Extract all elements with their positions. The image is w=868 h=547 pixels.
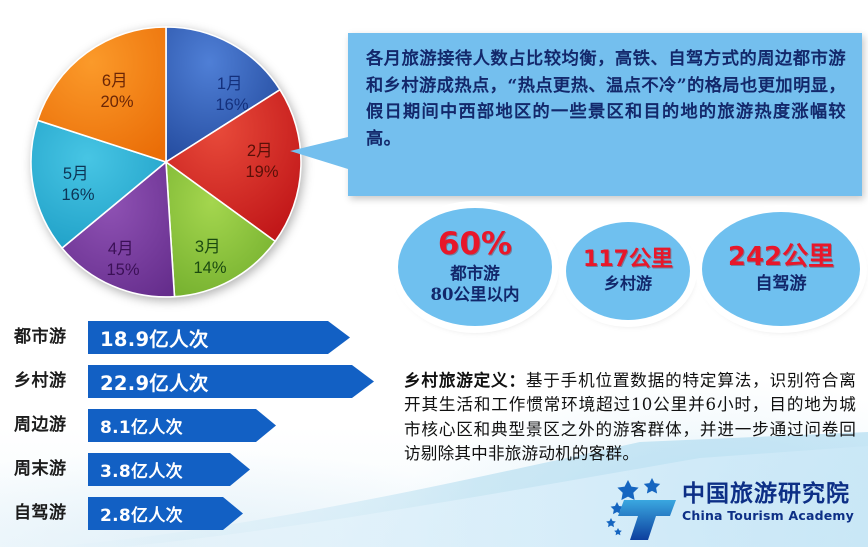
- bar-value-nearby: 8.1亿人次: [88, 413, 183, 438]
- bar-row-weekend: 周末游 3.8亿人次: [0, 450, 400, 488]
- logo-mark-icon: [604, 478, 682, 542]
- stat-bubble-rural-number: 117公里: [583, 249, 673, 271]
- stat-bubble-urban: 60% 都市游 80公里以内: [398, 208, 552, 326]
- stat-bubble-selfdrive-number: 242公里: [728, 244, 834, 270]
- bar-category-urban: 都市游: [14, 318, 67, 356]
- bar-row-rural: 乡村游 22.9亿人次: [0, 362, 400, 400]
- definition-term: 乡村旅游定义：: [404, 370, 526, 390]
- monthly-share-pie-chart: 1月 16% 2月 19% 3月 14% 4月 15% 5月 16% 6月 20…: [30, 24, 302, 298]
- bar-category-rural: 乡村游: [14, 362, 67, 400]
- logo-text: 中国旅游研究院 China Tourism Academy: [682, 482, 854, 523]
- bar-arrow-selfdrive: 2.8亿人次: [88, 497, 243, 530]
- organization-logo: 中国旅游研究院 China Tourism Academy: [604, 478, 866, 544]
- callout-text: 各月旅游接待人数占比较均衡，高铁、自驾方式的周边都市游和乡村游成热点，“热点更热…: [348, 33, 862, 196]
- stat-bubble-urban-caption: 都市游 80公里以内: [431, 264, 520, 304]
- bar-value-selfdrive: 2.8亿人次: [88, 501, 183, 526]
- bar-row-urban: 都市游 18.9亿人次: [0, 318, 400, 356]
- bar-value-urban: 18.9亿人次: [88, 323, 209, 352]
- stat-bubble-urban-number: 60%: [438, 229, 512, 260]
- bar-value-rural: 22.9亿人次: [88, 367, 209, 396]
- bar-value-weekend: 3.8亿人次: [88, 457, 183, 482]
- infographic-canvas: 1月 16% 2月 19% 3月 14% 4月 15% 5月 16% 6月 20…: [0, 0, 868, 547]
- trip-type-bar-chart: 都市游 18.9亿人次 乡村游 22.9亿人次 周边游 8.1亿人次 周末游 3…: [0, 318, 400, 543]
- logo-name-cn: 中国旅游研究院: [682, 482, 854, 506]
- summary-callout-box: 各月旅游接待人数占比较均衡，高铁、自驾方式的周边都市游和乡村游成热点，“热点更热…: [348, 33, 862, 196]
- bar-arrow-weekend: 3.8亿人次: [88, 453, 250, 486]
- pie-svg: 1月 16% 2月 19% 3月 14% 4月 15% 5月 16% 6月 20…: [30, 24, 302, 298]
- bar-arrow-urban: 18.9亿人次: [88, 321, 350, 354]
- stat-bubble-urban-caption-line2: 80公里以内: [431, 285, 520, 305]
- stat-bubble-rural-caption: 乡村游: [604, 274, 652, 294]
- stat-bubble-urban-caption-line1: 都市游: [431, 264, 520, 284]
- callout-pointer: [290, 137, 348, 169]
- bar-arrow-rural: 22.9亿人次: [88, 365, 374, 398]
- bar-row-nearby: 周边游 8.1亿人次: [0, 406, 400, 444]
- rural-tourism-definition: 乡村旅游定义：基于手机位置数据的特定算法，识别符合离开其生活和工作惯常环境超过1…: [404, 368, 856, 467]
- bar-row-selfdrive: 自驾游 2.8亿人次: [0, 494, 400, 532]
- stat-bubble-selfdrive: 242公里 自驾游: [702, 212, 860, 326]
- stat-bubble-rural: 117公里 乡村游: [566, 222, 690, 320]
- stat-bubble-selfdrive-caption: 自驾游: [756, 274, 807, 295]
- bar-arrow-nearby: 8.1亿人次: [88, 409, 276, 442]
- logo-name-en: China Tourism Academy: [682, 508, 854, 523]
- bar-category-nearby: 周边游: [14, 406, 67, 444]
- bar-category-weekend: 周末游: [14, 450, 67, 488]
- bar-category-selfdrive: 自驾游: [14, 494, 67, 532]
